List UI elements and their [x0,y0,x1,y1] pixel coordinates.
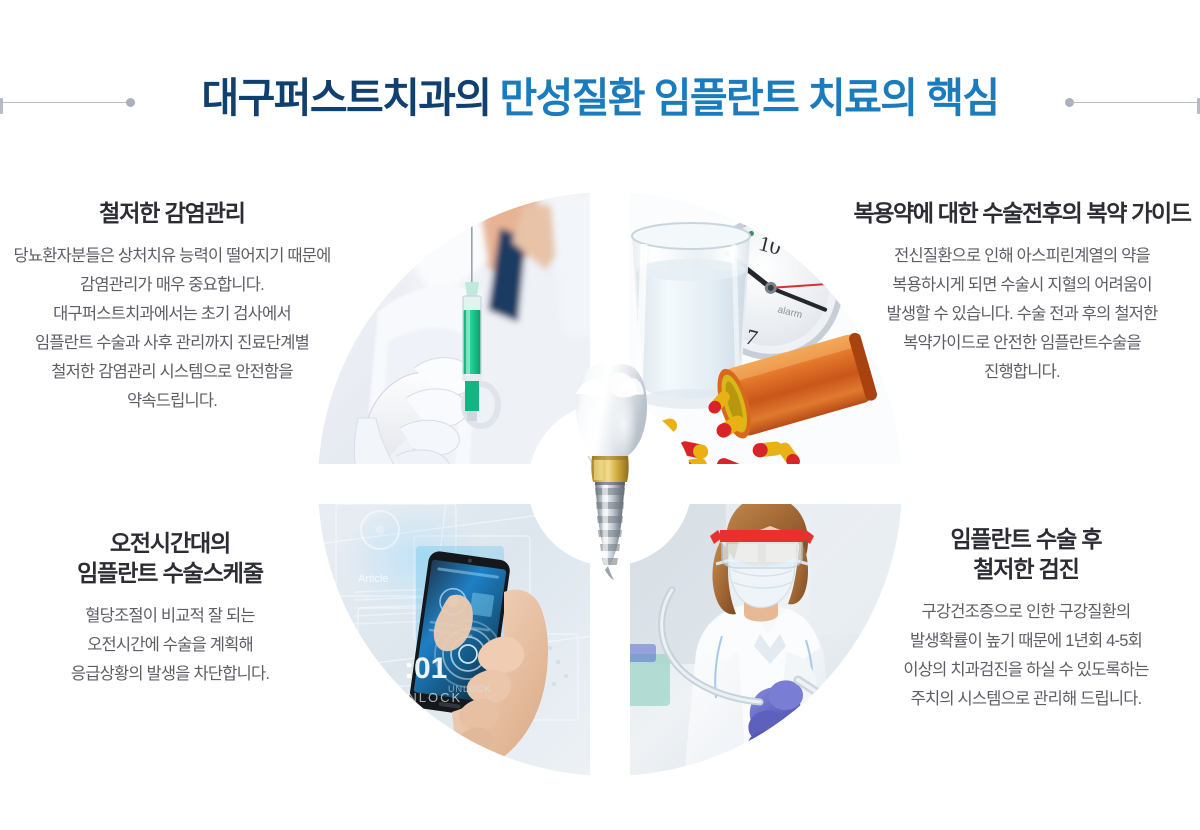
feature-block-morning-schedule: 오전시간대의임플란트 수술스케줄 혈당조절이 비교적 잘 되는 오전시간에 수술… [0,528,346,689]
page-title: 대구퍼스트치과의만성질환 임플란트 치료의 핵심 [0,62,1200,134]
page-header: 대구퍼스트치과의만성질환 임플란트 치료의 핵심 [0,62,1200,134]
block-line: 감염관리가 매우 중요합니다. [0,271,352,300]
block-line: 구강건조증으로 인한 구강질환의 [850,598,1200,627]
block-line: 오전시간에 수술을 계획해 [0,631,346,660]
heading-line-2: 철저한 검진 [973,556,1079,582]
feature-wheel: 10 9 8 7 alarm [318,192,902,776]
svg-text:Article: Article [358,573,389,585]
page-title-clinic: 대구퍼스트치과의 [202,75,491,121]
block-heading-medication-guide: 복용약에 대한 수술전후의 복약 가이드 [836,198,1200,228]
block-heading-morning-schedule: 오전시간대의임플란트 수술스케줄 [0,528,346,588]
feature-block-medication-guide: 복용약에 대한 수술전후의 복약 가이드 전신질환으로 인해 아스피린계열의 약… [836,198,1200,387]
rule-line-left [3,102,131,103]
heading-line-1: 임플란트 수술 후 [950,526,1101,552]
block-line: 발생할 수 있습니다. 수술 전과 후의 철저한 [836,300,1200,329]
block-heading-post-op-checkup: 임플란트 수술 후철저한 검진 [850,524,1200,584]
header-rule-left [0,101,140,111]
block-heading-infection-control: 철저한 감염관리 [0,198,352,228]
block-line: 응급상황의 발생을 차단합니다. [0,660,346,689]
block-line: 약속드립니다. [0,387,352,416]
block-line: 복약가이드로 안전한 임플란트수술을 [836,329,1200,358]
rule-line-right [1069,102,1197,103]
block-line: 임플란트 수술과 사후 관리까지 진료단계별 [0,329,352,358]
infographic-page: 대구퍼스트치과의만성질환 임플란트 치료의 핵심 [0,0,1200,830]
svg-text:UNLOCK: UNLOCK [448,684,492,694]
block-line: 철저한 감염관리 시스템으로 안전함을 [0,358,352,387]
block-line: 진행합니다. [836,358,1200,387]
heading-line-2: 임플란트 수술스케줄 [77,560,263,586]
page-title-topic: 만성질환 임플란트 치료의 핵심 [500,75,999,121]
rule-dot-left-icon [126,98,135,107]
block-line: 이상의 치과검진을 하실 수 있도록하는 [850,656,1200,685]
heading-line-1: 오전시간대의 [110,530,230,556]
feature-block-post-op-checkup: 임플란트 수술 후철저한 검진 구강건조증으로 인한 구강질환의 발생확률이 높… [850,524,1200,714]
block-line: 당뇨환자분들은 상처치유 능력이 떨어지기 때문에 [0,242,352,271]
block-line: 주치의 시스템으로 관리해 드립니다. [850,685,1200,714]
feature-block-infection-control: 철저한 감염관리 당뇨환자분들은 상처치유 능력이 떨어지기 때문에 감염관리가… [0,198,352,416]
header-rule-right [1060,101,1200,111]
block-line: 발생확률이 높기 때문에 1년회 4-5회 [850,627,1200,656]
block-line: 대구퍼스트치과에서는 초기 검사에서 [0,300,352,329]
svg-text::01: :01 [404,652,447,685]
dental-implant-graphic [562,360,658,628]
block-line: 혈당조절이 비교적 잘 되는 [0,602,346,631]
rule-tick-left-icon [0,98,3,114]
block-line: 복용하시게 되면 수술시 지혈의 어려움이 [836,271,1200,300]
block-line: 전신질환으로 인해 아스피린계열의 약을 [836,242,1200,271]
